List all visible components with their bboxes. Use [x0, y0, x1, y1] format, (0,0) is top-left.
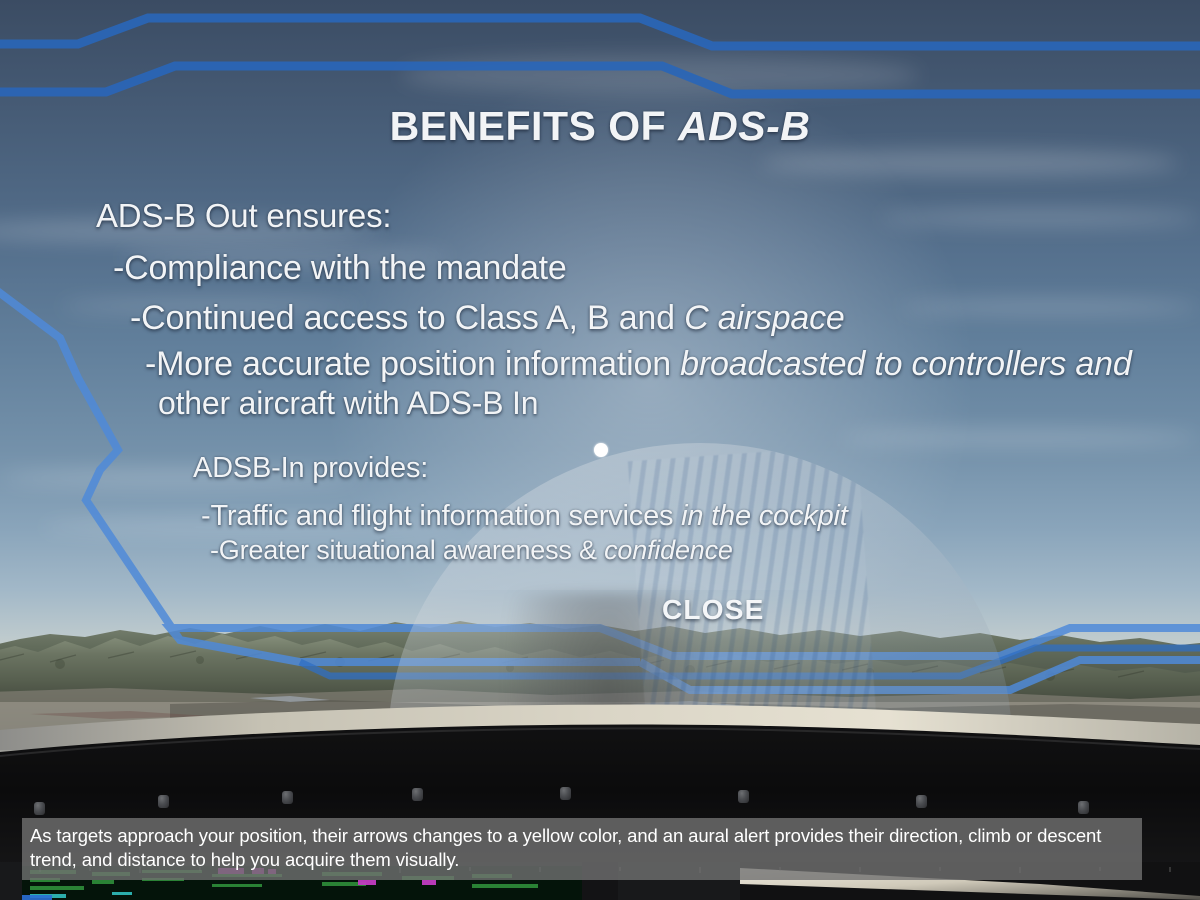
panel-fastener-knob: [916, 795, 927, 808]
subtitle-caption-bar: As targets approach your position, their…: [22, 818, 1142, 880]
sky-background: [0, 0, 1200, 712]
panel-fastener-knob: [34, 802, 45, 815]
pointer-dot-icon: [594, 443, 608, 457]
panel-fastener-knob: [738, 790, 749, 803]
panel-fastener-knob: [412, 788, 423, 801]
terrain: [0, 612, 1200, 772]
panel-fastener-knob: [158, 795, 169, 808]
simulator-viewport: BENEFITS OF ADS-B ADS-B Out ensures: -Co…: [0, 0, 1200, 900]
close-button[interactable]: CLOSE: [654, 592, 772, 628]
panel-fastener-knob: [560, 787, 571, 800]
panel-fastener-knob: [1078, 801, 1089, 814]
panel-fastener-knob: [282, 791, 293, 804]
shoreline-flats: [0, 674, 1200, 734]
